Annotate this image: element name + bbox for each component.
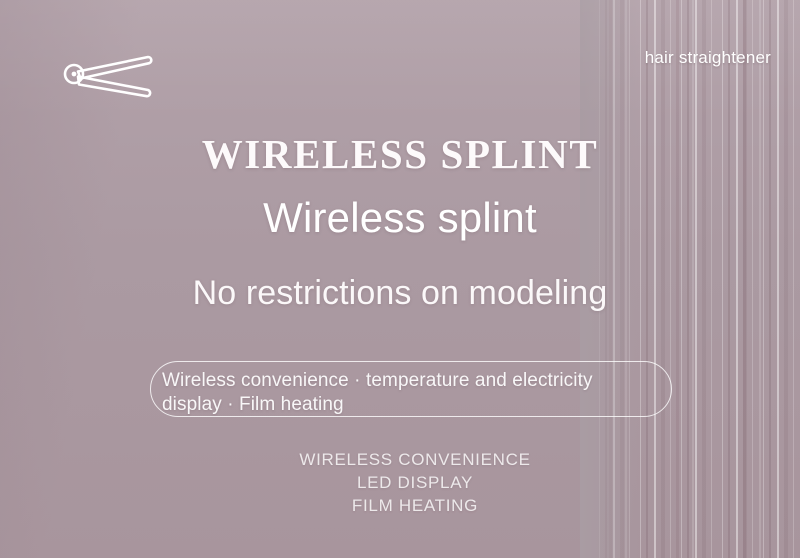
feature-list-item: WIRELESS CONVENIENCE xyxy=(252,448,578,471)
hair-straightener-icon xyxy=(62,48,158,100)
feature-pill-label: Wireless convenience · temperature and e… xyxy=(162,369,632,417)
corner-tag-label: hair straightener xyxy=(645,48,771,68)
page-title-serif: WIRELESS SPLINT xyxy=(0,130,800,178)
product-banner: hair straightener WIRELESS SPLINT Wirele… xyxy=(0,0,800,558)
page-subtitle: No restrictions on modeling xyxy=(0,274,800,313)
page-title-sans: Wireless splint xyxy=(0,194,800,242)
feature-list-item: LED DISPLAY xyxy=(252,471,578,494)
feature-list-item: FILM HEATING xyxy=(252,494,578,517)
product-image xyxy=(0,300,420,558)
feature-list: WIRELESS CONVENIENCE LED DISPLAY FILM HE… xyxy=(252,448,578,517)
